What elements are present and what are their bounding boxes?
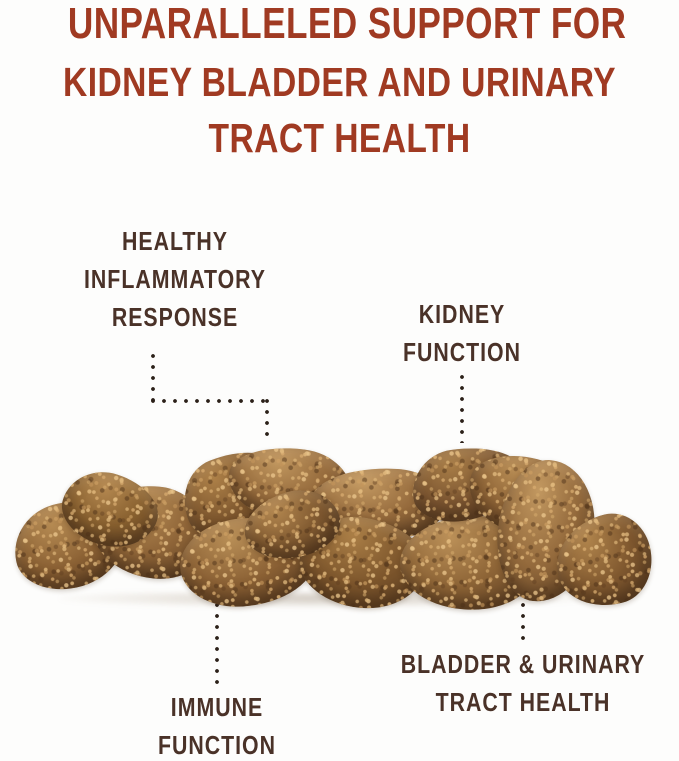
dotted-leader-inflammatory-vertical-bottom bbox=[265, 399, 269, 443]
callout-kidney-function: KIDNEY FUNCTION bbox=[362, 295, 562, 371]
callout-bladder-urinary-tract-health: BLADDER & URINARY TRACT HEALTH bbox=[373, 645, 673, 721]
dotted-leader-inflammatory-horizontal bbox=[151, 399, 269, 403]
callout-line: TRACT HEALTH bbox=[400, 683, 646, 721]
dotted-leader-kidney-vertical bbox=[460, 375, 464, 443]
dotted-leader-immune-vertical bbox=[215, 592, 219, 684]
callout-line: IMMUNE bbox=[135, 688, 299, 726]
callout-line: RESPONSE bbox=[60, 298, 290, 336]
headline-line-2: KIDNEY BLADDER AND URINARY bbox=[61, 60, 618, 104]
callout-line: BLADDER & URINARY bbox=[400, 645, 646, 683]
callout-immune-function: IMMUNE FUNCTION bbox=[117, 688, 317, 761]
callout-healthy-inflammatory-response: HEALTHY INFLAMMATORY RESPONSE bbox=[35, 222, 315, 336]
callout-line: FUNCTION bbox=[135, 726, 299, 761]
dotted-leader-inflammatory-vertical-top bbox=[151, 354, 155, 402]
headline-line-3: TRACT HEALTH bbox=[61, 116, 618, 160]
kibble-pile-image bbox=[0, 430, 679, 610]
callout-line: HEALTHY bbox=[60, 222, 290, 260]
infographic-canvas: UNPARALLELED SUPPORT FOR KIDNEY BLADDER … bbox=[0, 0, 679, 761]
callout-line: KIDNEY bbox=[380, 295, 544, 333]
headline-line-1: UNPARALLELED SUPPORT FOR bbox=[68, 2, 611, 46]
dotted-leader-bladder-vertical bbox=[521, 592, 525, 640]
callout-line: INFLAMMATORY bbox=[60, 260, 290, 298]
callout-line: FUNCTION bbox=[380, 333, 544, 371]
